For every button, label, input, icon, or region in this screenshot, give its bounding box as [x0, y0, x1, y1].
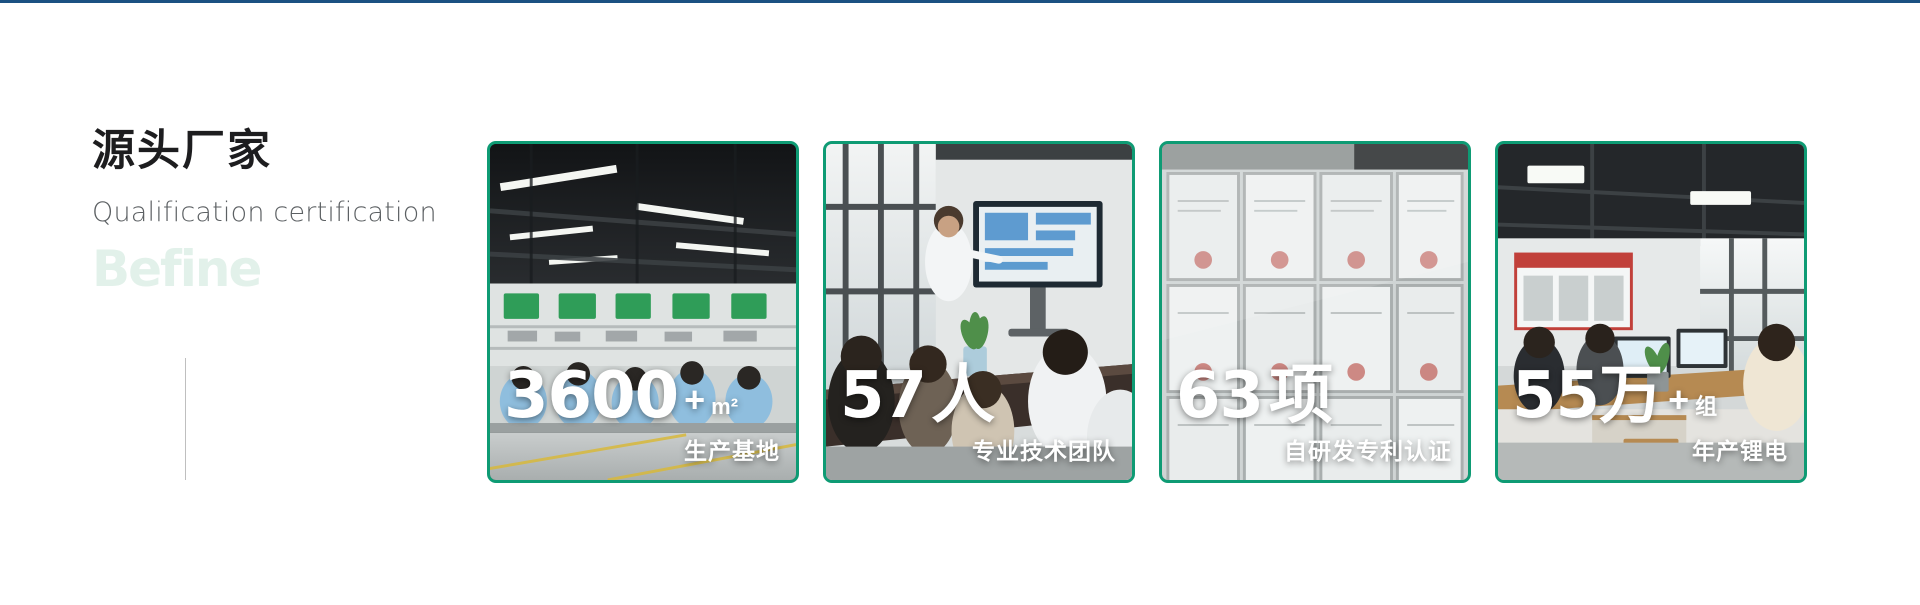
stat-number: 3600 [504, 367, 678, 426]
vertical-divider [185, 358, 186, 480]
stat-label: 自研发专利认证 [1176, 432, 1452, 466]
stat-label: 生产基地 [504, 432, 780, 466]
intro-block: 源头厂家 Qualification certification Befine [92, 128, 472, 294]
page-title: 源头厂家 [92, 128, 472, 175]
stat-caption: 63 项 自研发专利认证 [1162, 367, 1468, 480]
page-subtitle: Qualification certification [92, 197, 472, 228]
stat-number: 57 [840, 367, 925, 426]
brand-watermark: Befine [92, 244, 472, 294]
stat-unit: m² [711, 396, 738, 426]
stat-label: 专业技术团队 [840, 432, 1116, 466]
stat-card-patents[interactable]: 63 项 自研发专利认证 [1159, 141, 1471, 483]
stat-unit: 组 [1695, 396, 1717, 426]
stat-unit: 项 [1269, 367, 1332, 426]
stat-plus-sign: + [1668, 382, 1689, 426]
stat-card-production-base[interactable]: 3600 + m² 生产基地 [487, 141, 799, 483]
stat-number: 63 [1176, 367, 1263, 426]
stat-label: 年产锂电 [1512, 432, 1788, 466]
stat-card-annual-output[interactable]: 55万 + 组 年产锂电 [1495, 141, 1807, 483]
stat-plus-sign: + [684, 382, 705, 426]
stat-card-tech-team[interactable]: 57 人 专业技术团队 [823, 141, 1135, 483]
stat-unit: 人 [931, 367, 993, 426]
stats-card-strip: 3600 + m² 生产基地 [487, 141, 1807, 483]
stat-caption: 57 人 专业技术团队 [826, 367, 1132, 480]
stat-number: 55万 [1512, 367, 1662, 426]
stat-caption: 3600 + m² 生产基地 [490, 367, 796, 480]
stat-caption: 55万 + 组 年产锂电 [1498, 367, 1804, 480]
top-accent-rule [0, 0, 1920, 3]
